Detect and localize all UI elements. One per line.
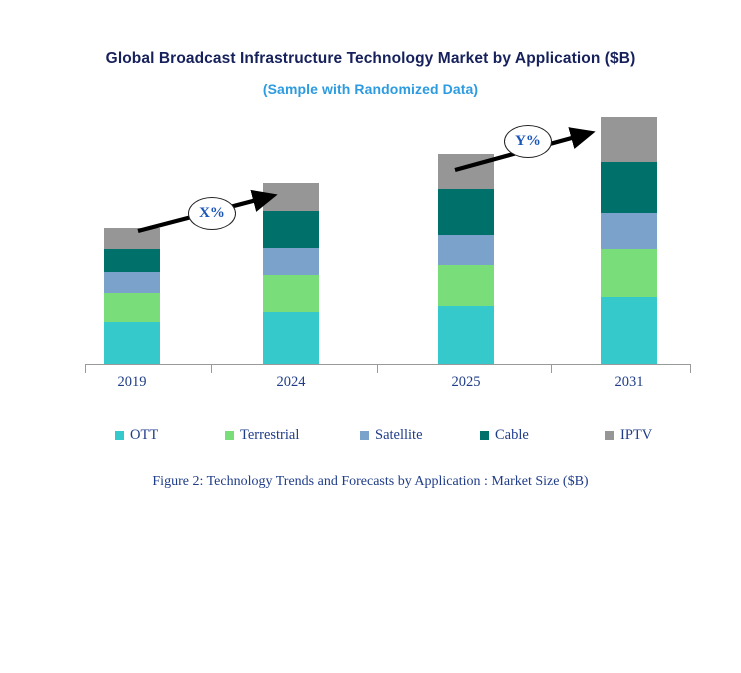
legend-item-satellite[interactable]: Satellite — [360, 427, 423, 444]
legend-label: OTT — [130, 427, 158, 444]
x-axis-label-2024: 2024 — [231, 374, 351, 391]
legend-label: Satellite — [375, 427, 423, 444]
bar-segment-ott-2024 — [263, 312, 319, 364]
legend-label: Terrestrial — [240, 427, 299, 444]
figure-caption: Figure 2: Technology Trends and Forecast… — [0, 474, 741, 490]
legend-label: IPTV — [620, 427, 652, 444]
bar-segment-iptv-2025 — [438, 154, 494, 190]
legend-swatch-icon — [360, 431, 369, 440]
legend-swatch-icon — [605, 431, 614, 440]
bar-segment-satellite-2019 — [104, 272, 160, 294]
bar-segment-cable-2025 — [438, 189, 494, 235]
bar-segment-terrestrial-2025 — [438, 265, 494, 306]
legend-label: Cable — [495, 427, 529, 444]
bar-segment-terrestrial-2019 — [104, 293, 160, 321]
stacked-bar-2025 — [438, 154, 494, 364]
bar-segment-terrestrial-2024 — [263, 275, 319, 312]
stacked-bar-2019 — [104, 228, 160, 364]
x-axis-label-2025: 2025 — [406, 374, 526, 391]
bar-segment-iptv-2024 — [263, 183, 319, 211]
plot-area: 2019202420252031 — [0, 0, 741, 673]
callout-x-percent: X% — [188, 197, 236, 230]
x-axis-tick-3 — [551, 364, 552, 373]
bar-segment-cable-2019 — [104, 249, 160, 272]
legend-item-iptv[interactable]: IPTV — [605, 427, 652, 444]
chart-figure: Global Broadcast Infrastructure Technolo… — [0, 0, 741, 673]
x-axis-tick-0 — [85, 364, 86, 373]
legend-item-cable[interactable]: Cable — [480, 427, 529, 444]
bar-segment-satellite-2031 — [601, 213, 657, 249]
legend-swatch-icon — [115, 431, 124, 440]
x-axis-label-2019: 2019 — [72, 374, 192, 391]
bar-segment-iptv-2019 — [104, 228, 160, 249]
bar-segment-cable-2031 — [601, 162, 657, 213]
x-axis-tick-2 — [377, 364, 378, 373]
bar-segment-ott-2025 — [438, 306, 494, 363]
bar-segment-satellite-2024 — [263, 248, 319, 275]
bar-segment-ott-2031 — [601, 297, 657, 364]
stacked-bar-2024 — [263, 183, 319, 364]
x-axis-tick-4 — [690, 364, 691, 373]
bar-segment-terrestrial-2031 — [601, 249, 657, 297]
bar-segment-satellite-2025 — [438, 235, 494, 265]
bar-segment-cable-2024 — [263, 211, 319, 248]
callout-x-label: X% — [199, 205, 225, 222]
x-axis-tick-1 — [211, 364, 212, 373]
callout-y-percent: Y% — [504, 125, 552, 158]
chart-legend: OTTTerrestrialSatelliteCableIPTV — [85, 427, 691, 449]
legend-swatch-icon — [480, 431, 489, 440]
bar-segment-iptv-2031 — [601, 117, 657, 163]
legend-swatch-icon — [225, 431, 234, 440]
x-axis-line — [85, 364, 691, 365]
stacked-bar-2031 — [601, 117, 657, 364]
callout-y-label: Y% — [515, 133, 541, 150]
x-axis-label-2031: 2031 — [569, 374, 689, 391]
legend-item-ott[interactable]: OTT — [115, 427, 158, 444]
legend-item-terrestrial[interactable]: Terrestrial — [225, 427, 299, 444]
bar-segment-ott-2019 — [104, 322, 160, 364]
